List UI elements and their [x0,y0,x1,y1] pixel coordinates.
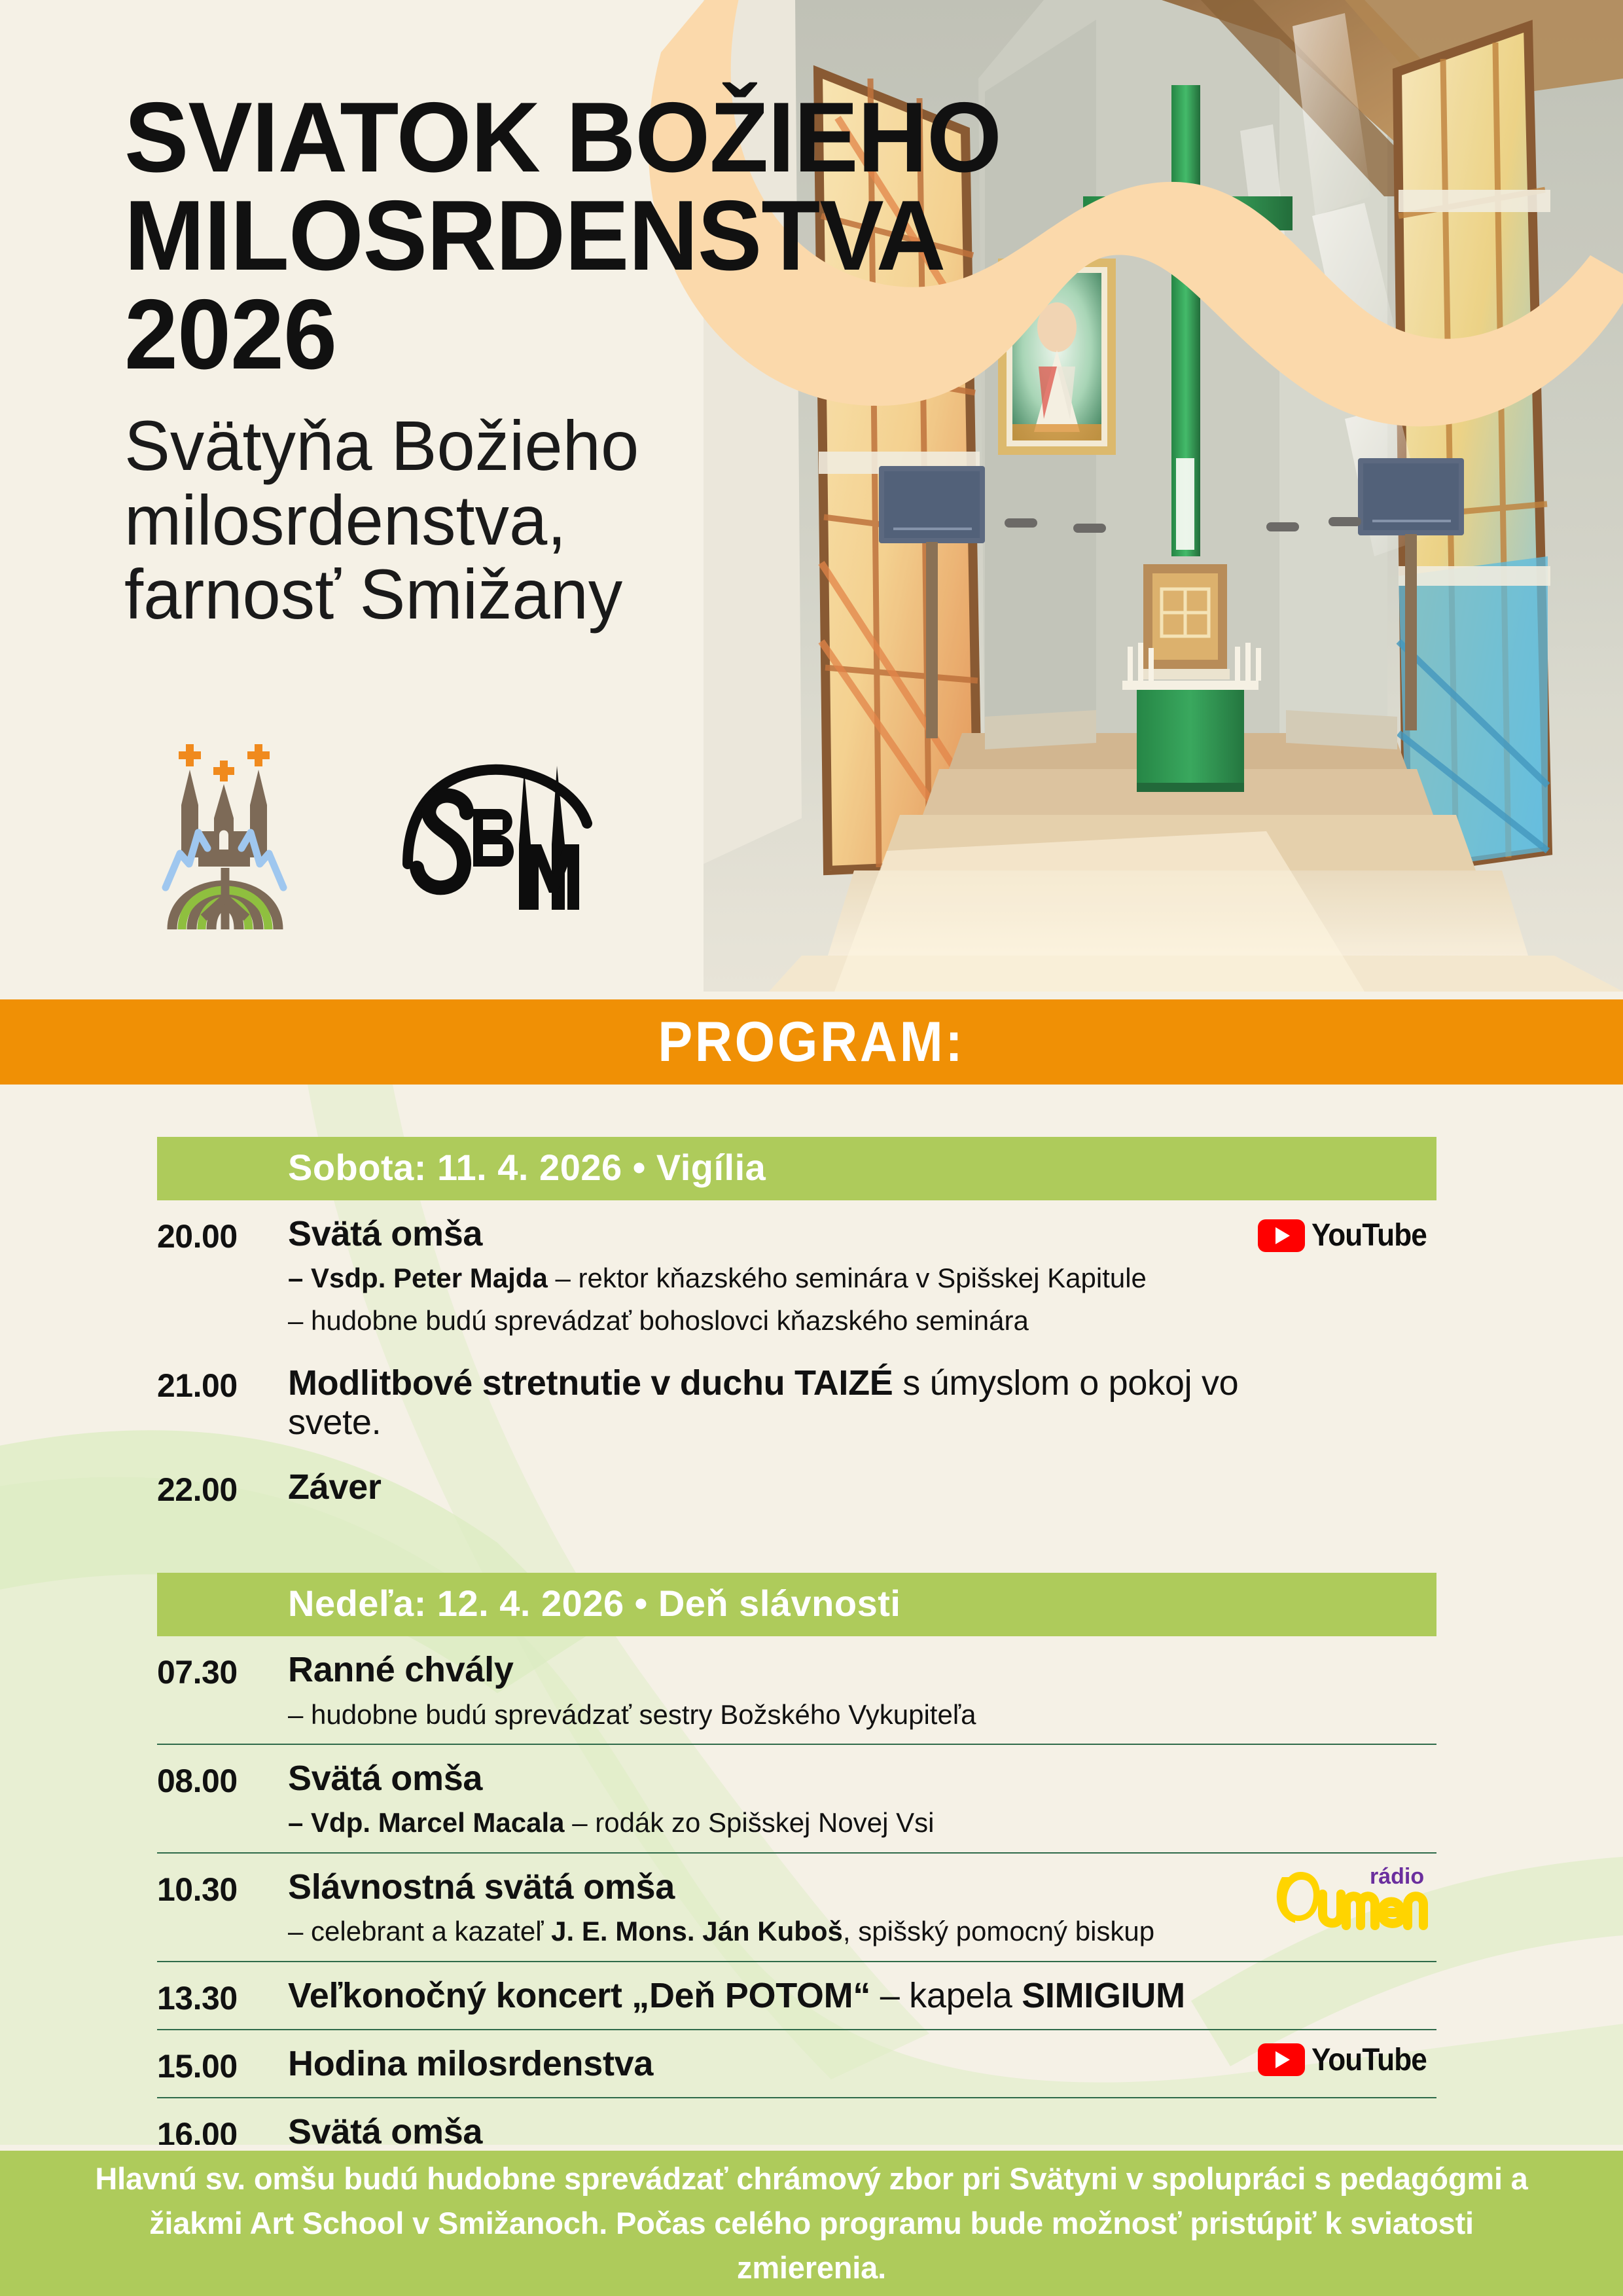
row-time: 20.00 [157,1215,288,1255]
program-section: Sobota: 11. 4. 2026 • Vigília 20.00 Svät… [0,1085,1623,2145]
row-time: 22.00 [157,1468,288,1509]
row-body: Veľkonočný koncert „Deň POTOM“ – kapela … [288,1977,1436,2015]
row-time: 13.30 [157,1977,288,2017]
poster-subtitle: Svätyňa Božieho milosrdenstva, farnosť S… [124,408,1204,631]
row-note-rest: – rodák zo Spišskej Novej Vsi [565,1807,935,1838]
schedule-row-1500: 15.00 Hodina milosrdenstva YouTube [157,2029,1436,2097]
row-title-bold2: SIMIGIUM [1022,1976,1185,2015]
youtube-badge: YouTube [1258,1217,1436,1253]
row-title-bold: Modlitbové stretnutie v duchu TAIZÉ [288,1363,893,1403]
row-note-bold: – Vsdp. Peter Majda [288,1263,548,1293]
youtube-play-icon [1258,2043,1305,2076]
schedule-row-2100: 21.00 Modlitbové stretnutie v duchu TAIZ… [157,1350,1436,1454]
schedule-table: Sobota: 11. 4. 2026 • Vigília 20.00 Svät… [157,1085,1436,2145]
hero-section: SVIATOK BOŽIEHO MILOSRDENSTVA 2026 Sväty… [0,0,1623,992]
row-note-pre: – celebrant a kazateľ [288,1916,551,1946]
row-time: 07.30 [157,1651,288,1691]
row-title: Svätá omša [288,2113,1240,2145]
youtube-play-icon [1258,1219,1305,1252]
row-time: 21.00 [157,1364,288,1405]
row-body: Záver [288,1468,1436,1507]
subtitle-line-1: Svätyňa Božieho [124,408,1204,482]
badge-radio-lumen[interactable]: rádio [1273,1857,1436,1936]
lumen-radio-word: rádio [1370,1864,1424,1889]
youtube-badge: YouTube [1258,2042,1436,2078]
row-note-rest: – hudobne budú sprevádzať sestry Božskéh… [288,1699,976,1730]
schedule-row-0800: 08.00 Svätá omša – Vdp. Marcel Macala – … [157,1744,1436,1852]
row-note-rest: , spišský pomocný biskup [843,1916,1154,1946]
row-note: – celebrant a kazateľ J. E. Mons. Ján Ku… [288,1914,1240,1949]
row-title: Ranné chvály [288,1651,1240,1689]
radio-lumen-logo-icon: rádio [1273,1857,1436,1933]
youtube-label: YouTube [1311,1217,1427,1253]
row-title: Veľkonočný koncert „Deň POTOM“ – kapela … [288,1977,1240,2015]
day-header-sunday: Nedeľa: 12. 4. 2026 • Deň slávnosti [157,1573,1436,1636]
row-title-light: – kapela [870,1976,1022,2015]
badge-youtube[interactable]: YouTube [1258,2042,1436,2078]
title-line-2: MILOSRDENSTVA [124,187,1204,285]
row-note-bold: – Vdp. Marcel Macala [288,1807,565,1838]
poster-root: SVIATOK BOŽIEHO MILOSRDENSTVA 2026 Sväty… [0,0,1623,2296]
row-note: – hudobne budú sprevádzať sestry Božskéh… [288,1698,1240,1732]
row-title: Hodina milosrdenstva [288,2045,1240,2083]
logo-row [160,733,592,929]
footer-text: Hlavnú sv. omšu budú hudobne sprevádzať … [85,2157,1538,2290]
sbm-logo-icon [396,746,592,929]
row-title: Záver [288,1468,1240,1507]
row-time: 08.00 [157,1759,288,1800]
row-time: 16.00 [157,2113,288,2145]
program-banner: PROGRAM: [0,999,1623,1085]
subtitle-line-2: milosrdenstva, [124,483,1204,557]
title-block: SVIATOK BOŽIEHO MILOSRDENSTVA 2026 Sväty… [124,88,1237,632]
schedule-row-2200: 22.00 Záver [157,1454,1436,1520]
row-note: – hudobne budú sprevádzať bohoslovci kňa… [288,1304,1240,1338]
poster-title: SVIATOK BOŽIEHO MILOSRDENSTVA 2026 [124,88,1204,384]
schedule-row-0730: 07.30 Ranné chvály – hudobne budú sprevá… [157,1636,1436,1744]
row-note-rest: – rektor kňazského seminára v Spišskej K… [548,1263,1147,1293]
row-body: Ranné chvály – hudobne budú sprevádzať s… [288,1651,1436,1732]
schedule-row-1330: 13.30 Veľkonočný koncert „Deň POTOM“ – k… [157,1961,1436,2029]
row-body: Slávnostná svätá omša – celebrant a kaza… [288,1868,1436,1949]
row-note: – Vsdp. Peter Majda – rektor kňazského s… [288,1261,1240,1296]
row-note-rest: – hudobne budú sprevádzať bohoslovci kňa… [288,1305,1029,1336]
program-banner-label: PROGRAM: [658,1010,965,1075]
row-note: – Vdp. Marcel Macala – rodák zo Spišskej… [288,1806,1240,1840]
row-time: 10.30 [157,1868,288,1909]
row-body: Modlitbové stretnutie v duchu TAIZÉ s úm… [288,1364,1436,1442]
badge-youtube[interactable]: YouTube [1258,1217,1436,1253]
day-header-saturday: Sobota: 11. 4. 2026 • Vigília [157,1137,1436,1200]
schedule-row-1030: 10.30 Slávnostná svätá omša – celebrant … [157,1852,1436,1961]
row-title: Svätá omša [288,1759,1240,1798]
subtitle-line-3: farnosť Smižany [124,557,1204,631]
row-title: Slávnostná svätá omša [288,1868,1240,1907]
schedule-row-2000: 20.00 Svätá omša – Vsdp. Peter Majda – r… [157,1200,1436,1350]
row-time: 15.00 [157,2045,288,2085]
footer-note: Hlavnú sv. omšu budú hudobne sprevádzať … [0,2151,1623,2296]
row-title: Modlitbové stretnutie v duchu TAIZÉ s úm… [288,1364,1240,1442]
row-note-bold: J. E. Mons. Ján Kuboš [551,1916,843,1946]
row-body: Svätá omša – Vdp. Marcel Macala – rodák … [288,1759,1436,1840]
schedule-row-1600: 16.00 Svätá omša – P. Michal Varga OFMCa… [157,2097,1436,2145]
title-line-1: SVIATOK BOŽIEHO [124,88,1204,187]
row-title: Svätá omša [288,1215,1240,1253]
row-body: Svätá omša – P. Michal Varga OFMCap – pa… [288,2113,1436,2145]
smizany-parish-logo-icon [160,733,357,929]
title-line-3: 2026 [124,285,1204,384]
row-title-bold: Veľkonočný koncert „Deň POTOM“ [288,1976,870,2015]
youtube-label: YouTube [1311,2042,1427,2078]
